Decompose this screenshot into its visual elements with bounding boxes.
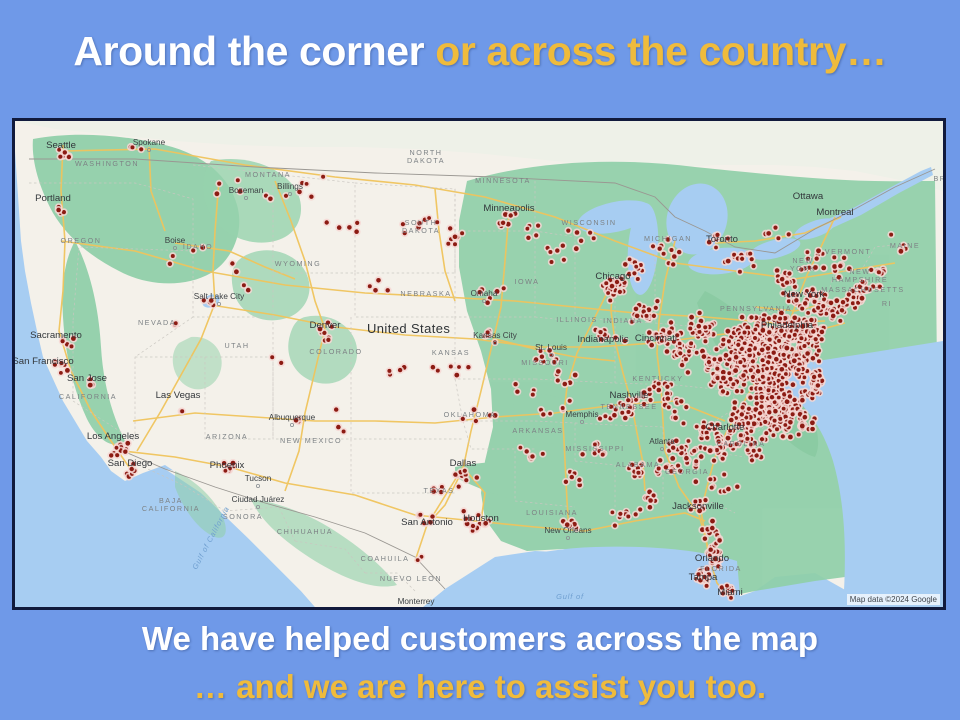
map-canvas: WASHINGTONOREGONIDAHOMONTANAWYOMINGNEVAD…: [15, 121, 943, 607]
svg-text:Miami: Miami: [717, 587, 743, 598]
svg-text:PENNSYLVANIA: PENNSYLVANIA: [720, 304, 792, 313]
svg-text:St. Louis: St. Louis: [535, 343, 567, 352]
svg-text:MASSACHUSETTS: MASSACHUSETTS: [821, 285, 904, 294]
svg-text:Las Vegas: Las Vegas: [156, 390, 201, 401]
svg-text:CAROLINA: CAROLINA: [717, 439, 766, 448]
svg-text:Orlando: Orlando: [695, 553, 729, 564]
svg-text:NEW MEXICO: NEW MEXICO: [280, 436, 342, 445]
svg-text:New Orleans: New Orleans: [544, 526, 591, 535]
svg-text:Charlotte: Charlotte: [706, 422, 745, 433]
headline-part-gold: or across the country…: [435, 28, 886, 74]
svg-text:MISSISSIPPI: MISSISSIPPI: [565, 444, 624, 453]
svg-text:NORTHDAKOTA: NORTHDAKOTA: [407, 148, 445, 165]
svg-text:Houston: Houston: [463, 513, 499, 524]
svg-text:VERMONT: VERMONT: [825, 247, 871, 256]
svg-text:UTAH: UTAH: [224, 341, 249, 350]
svg-text:Ciudad Juárez: Ciudad Juárez: [232, 495, 285, 504]
svg-text:Phoenix: Phoenix: [210, 460, 245, 471]
svg-text:COLORADO: COLORADO: [309, 347, 362, 356]
svg-text:New York: New York: [784, 289, 825, 300]
svg-text:Kansas City: Kansas City: [473, 331, 518, 340]
svg-text:Sacramento: Sacramento: [30, 330, 82, 341]
svg-text:TENNESSEE: TENNESSEE: [600, 402, 657, 411]
svg-text:Tucson: Tucson: [245, 474, 272, 483]
svg-text:ARIZONA: ARIZONA: [206, 432, 248, 441]
svg-text:OREGON: OREGON: [61, 236, 102, 245]
svg-text:Montreal: Montreal: [816, 207, 853, 218]
svg-text:Cincinnati: Cincinnati: [635, 333, 677, 344]
svg-text:MISSOURI: MISSOURI: [521, 358, 569, 367]
svg-text:Monterrey: Monterrey: [398, 597, 436, 606]
svg-text:IOWA: IOWA: [515, 277, 540, 286]
svg-text:San Francisco: San Francisco: [15, 356, 74, 367]
svg-text:Jacksonville: Jacksonville: [672, 501, 724, 512]
svg-text:San Diego: San Diego: [108, 458, 153, 469]
svg-text:ARKANSAS: ARKANSAS: [512, 426, 563, 435]
svg-text:IDAHO: IDAHO: [183, 242, 213, 251]
svg-text:GEORGIA: GEORGIA: [665, 467, 709, 476]
svg-text:Seattle: Seattle: [46, 140, 76, 151]
svg-text:San Jose: San Jose: [67, 373, 107, 384]
svg-text:KENTUCKY: KENTUCKY: [632, 374, 683, 383]
svg-text:Spokane: Spokane: [133, 138, 166, 147]
svg-text:Minneapolis: Minneapolis: [483, 203, 534, 214]
svg-text:MINNESOTA: MINNESOTA: [475, 176, 531, 185]
svg-text:INDIANA: INDIANA: [603, 316, 643, 325]
svg-text:Indianapolis: Indianapolis: [577, 334, 628, 345]
slide-root: Around the corner or across the country…: [0, 0, 960, 720]
svg-text:Nashville: Nashville: [610, 390, 649, 401]
footer-line-1: We have helped customers across the map: [0, 618, 960, 660]
svg-text:BR: BR: [934, 174, 944, 183]
svg-text:Albuquerque: Albuquerque: [269, 413, 316, 422]
svg-text:Atlanta: Atlanta: [649, 437, 675, 446]
svg-text:Chicago: Chicago: [595, 271, 630, 282]
svg-text:SONORA: SONORA: [223, 512, 263, 521]
svg-text:NEWYORK: NEWYORK: [790, 256, 816, 273]
svg-text:COAHUILA: COAHUILA: [361, 554, 410, 563]
svg-text:LOUISIANA: LOUISIANA: [526, 508, 578, 517]
svg-text:MAINE: MAINE: [890, 241, 920, 250]
svg-text:Toronto: Toronto: [706, 234, 738, 245]
country-label: United States: [367, 321, 450, 336]
svg-text:Portland: Portland: [35, 193, 71, 204]
svg-text:CHIHUAHUA: CHIHUAHUA: [277, 527, 333, 536]
svg-text:Los Angeles: Los Angeles: [87, 431, 139, 442]
footer-line-2: … and we are here to assist you too.: [0, 666, 960, 708]
svg-text:CALIFORNIA: CALIFORNIA: [59, 392, 117, 401]
svg-text:Denver: Denver: [310, 320, 342, 331]
page-title: Around the corner or across the country…: [0, 26, 960, 76]
svg-text:OKLAHOMA: OKLAHOMA: [444, 410, 497, 419]
svg-text:NEBRASKA: NEBRASKA: [400, 289, 451, 298]
svg-text:Philadelphia: Philadelphia: [761, 320, 814, 331]
svg-text:Billings: Billings: [277, 182, 303, 191]
svg-text:NUEVO LEON: NUEVO LEON: [380, 574, 442, 583]
svg-text:SOUTHDAKOTA: SOUTHDAKOTA: [402, 218, 440, 235]
svg-text:San Antonio: San Antonio: [401, 517, 453, 528]
svg-text:Dallas: Dallas: [450, 458, 477, 469]
svg-text:TEXAS: TEXAS: [423, 486, 454, 495]
svg-text:RI: RI: [882, 299, 892, 308]
svg-text:Tampa: Tampa: [689, 572, 718, 583]
svg-text:Gulf of: Gulf of: [556, 592, 584, 601]
svg-text:Omaha: Omaha: [471, 289, 498, 298]
us-customer-map[interactable]: WASHINGTONOREGONIDAHOMONTANAWYOMINGNEVAD…: [12, 118, 946, 610]
svg-text:ALABAMA: ALABAMA: [616, 460, 660, 469]
svg-text:NEVADA: NEVADA: [138, 318, 176, 327]
svg-text:KANSAS: KANSAS: [432, 348, 470, 357]
svg-text:ILLINOIS: ILLINOIS: [556, 315, 598, 324]
svg-text:Memphis: Memphis: [565, 410, 598, 419]
svg-text:MICHIGAN: MICHIGAN: [644, 234, 692, 243]
svg-text:WASHINGTON: WASHINGTON: [75, 159, 139, 168]
svg-text:WISCONSIN: WISCONSIN: [561, 218, 616, 227]
map-attribution: Map data ©2024 Google: [847, 594, 940, 605]
svg-text:Boise: Boise: [165, 236, 186, 245]
svg-text:MONTANA: MONTANA: [245, 170, 291, 179]
headline-part-white: Around the corner: [73, 28, 435, 74]
svg-text:Bozeman: Bozeman: [229, 186, 264, 195]
svg-text:WYOMING: WYOMING: [275, 259, 321, 268]
svg-text:Salt Lake City: Salt Lake City: [194, 292, 245, 301]
svg-text:Ottawa: Ottawa: [793, 191, 824, 202]
